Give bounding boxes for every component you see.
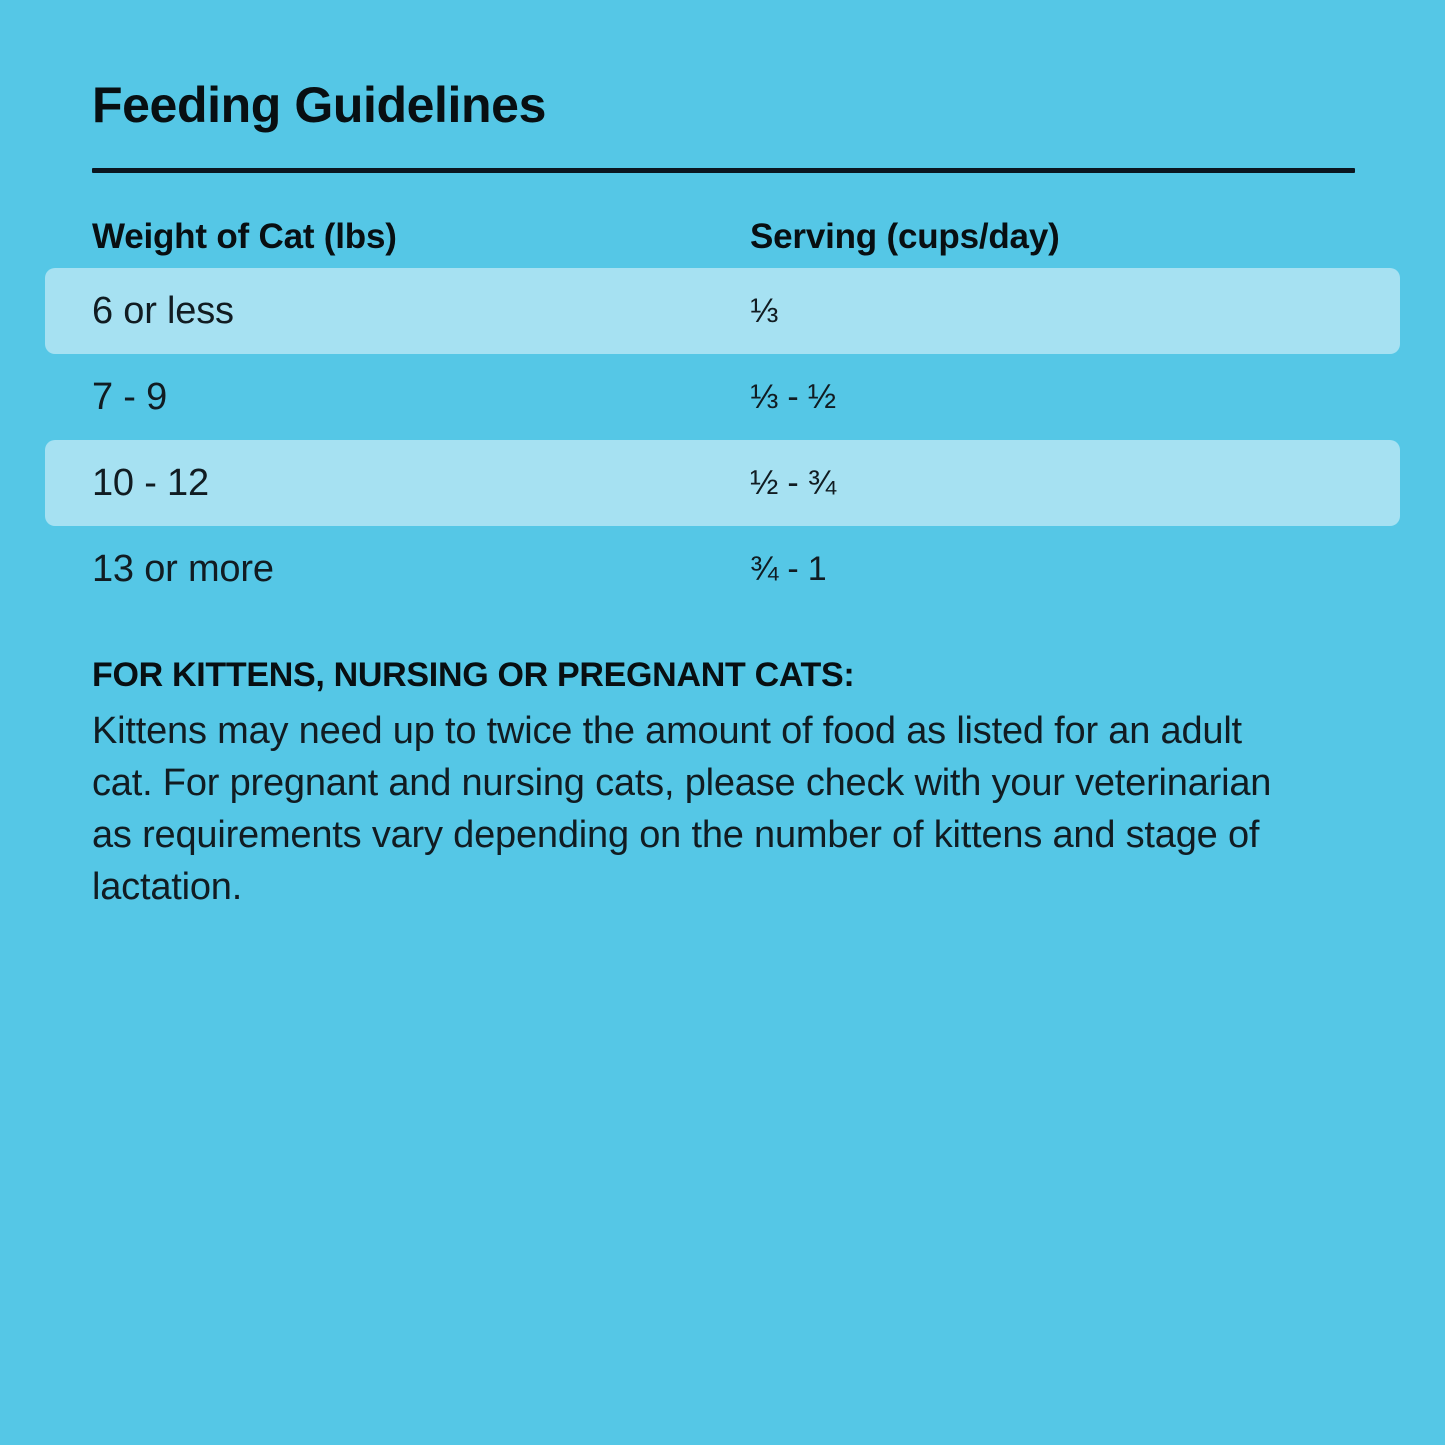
title-divider <box>92 168 1355 173</box>
table-body: 6 or less⅓7 - 9⅓ - ½10 - 12½ - ¾13 or mo… <box>0 268 1445 612</box>
row-highlight <box>45 440 1400 526</box>
table-row: 10 - 12½ - ¾ <box>0 440 1445 526</box>
table-header-row: Weight of Cat (lbs) Serving (cups/day) <box>0 206 1445 268</box>
feeding-table: Weight of Cat (lbs) Serving (cups/day) 6… <box>0 206 1445 612</box>
kitten-note-heading: FOR KITTENS, NURSING OR PREGNANT CATS: <box>92 655 1292 695</box>
cell-weight: 10 - 12 <box>92 440 209 526</box>
kitten-note-body: Kittens may need up to twice the amount … <box>92 705 1272 913</box>
cell-weight: 13 or more <box>92 526 274 612</box>
table-row: 13 or more¾ - 1 <box>0 526 1445 612</box>
row-highlight <box>45 268 1400 354</box>
column-header-serving: Serving (cups/day) <box>750 206 1060 268</box>
cell-weight: 7 - 9 <box>92 354 167 440</box>
row-highlight <box>45 354 1400 440</box>
table-row: 6 or less⅓ <box>0 268 1445 354</box>
table-row: 7 - 9⅓ - ½ <box>0 354 1445 440</box>
page-title: Feeding Guidelines <box>92 80 546 130</box>
cell-serving: ¾ - 1 <box>750 526 826 612</box>
cell-serving: ½ - ¾ <box>750 440 836 526</box>
feeding-guidelines-panel: Feeding Guidelines Weight of Cat (lbs) S… <box>0 0 1445 1445</box>
cell-serving: ⅓ - ½ <box>750 354 836 440</box>
kitten-note: FOR KITTENS, NURSING OR PREGNANT CATS: K… <box>92 655 1292 913</box>
cell-serving: ⅓ <box>750 268 778 354</box>
cell-weight: 6 or less <box>92 268 234 354</box>
column-header-weight: Weight of Cat (lbs) <box>92 206 397 268</box>
